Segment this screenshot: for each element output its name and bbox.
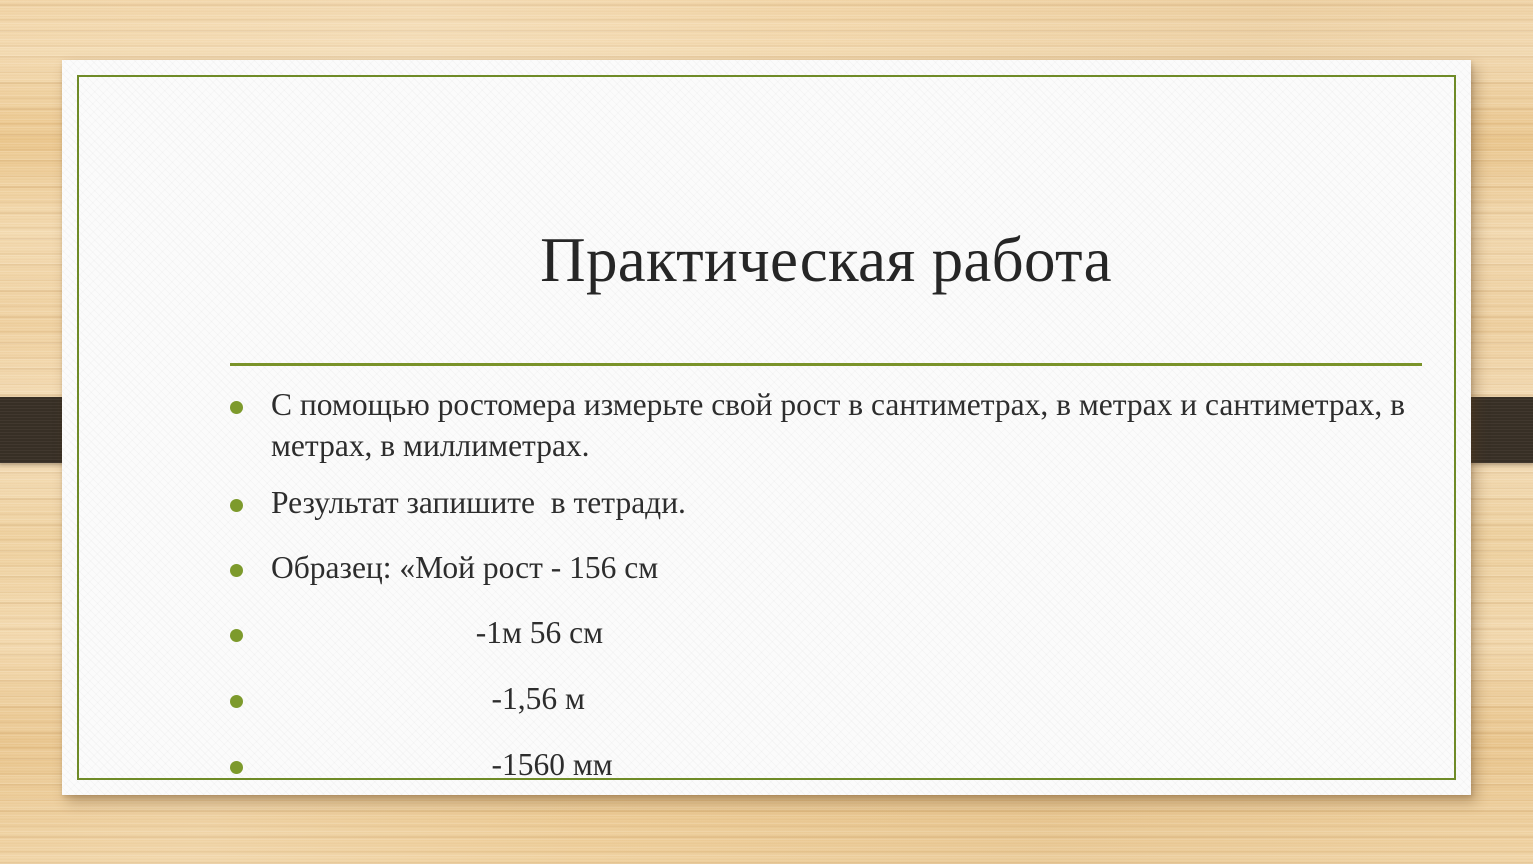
list-item: Образец: «Мой рост - 156 см bbox=[230, 548, 1430, 589]
bullet-dot-icon bbox=[230, 499, 243, 512]
list-item-text: -1,56 м bbox=[271, 679, 1430, 720]
slide-card: Практическая работа С помощью ростомера … bbox=[62, 60, 1471, 795]
list-item-text: -1м 56 см bbox=[271, 613, 1430, 654]
list-item-text: С помощью ростомера измерьте свой рост в… bbox=[271, 385, 1430, 467]
bullet-list: С помощью ростомера измерьте свой рост в… bbox=[230, 385, 1430, 811]
list-item: -1560 мм bbox=[230, 745, 1430, 786]
list-item: -1м 56 см bbox=[230, 613, 1430, 654]
bullet-dot-icon bbox=[230, 629, 243, 642]
title-divider bbox=[230, 363, 1422, 366]
bullet-dot-icon bbox=[230, 761, 243, 774]
list-item: С помощью ростомера измерьте свой рост в… bbox=[230, 385, 1430, 467]
list-item-text: Образец: «Мой рост - 156 см bbox=[271, 548, 1430, 589]
bullet-dot-icon bbox=[230, 401, 243, 414]
slide-title: Практическая работа bbox=[230, 226, 1422, 294]
bullet-dot-icon bbox=[230, 695, 243, 708]
list-item: -1,56 м bbox=[230, 679, 1430, 720]
list-item: Результат запишите в тетради. bbox=[230, 483, 1430, 524]
list-item-text: Результат запишите в тетради. bbox=[271, 483, 1430, 524]
bullet-dot-icon bbox=[230, 564, 243, 577]
slide-background: Практическая работа С помощью ростомера … bbox=[0, 0, 1533, 864]
list-item-text: -1560 мм bbox=[271, 745, 1430, 786]
